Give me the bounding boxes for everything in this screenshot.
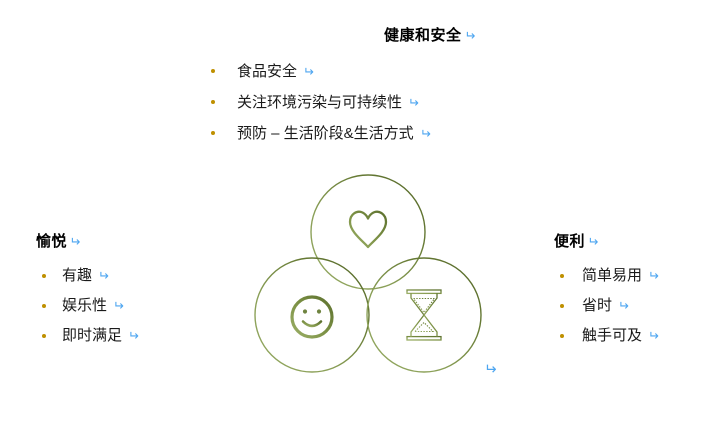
- list-item: 娱乐性 ↵: [36, 291, 139, 321]
- list-item: 省时 ↵: [554, 291, 659, 321]
- group-delight-title-text: 愉悦: [36, 233, 67, 250]
- slide-canvas: 健康和安全↵ 食品安全 ↵ 关注环境污染与可持续性 ↵ 预防 – 生活阶段&生活…: [0, 0, 712, 428]
- list-item-label: 即时满足: [62, 321, 122, 351]
- bullet-dot-icon: [560, 274, 564, 278]
- list-item-label: 省时: [582, 291, 612, 321]
- bullet-dot-icon: [560, 304, 564, 308]
- pilcrow-icon: ↵: [618, 291, 629, 321]
- list-item-label: 娱乐性: [62, 291, 107, 321]
- group-delight-list: 有趣 ↵ 娱乐性 ↵ 即时满足 ↵: [36, 261, 139, 351]
- bullet-dot-icon: [42, 334, 46, 338]
- list-item: 食品安全 ↵: [203, 56, 475, 87]
- pilcrow-icon: ↵: [98, 261, 109, 291]
- pilcrow-icon: ↵: [587, 235, 598, 249]
- pilcrow-icon: ↵: [420, 118, 431, 149]
- list-item: 关注环境污染与可持续性 ↵: [203, 87, 475, 118]
- list-item: 简单易用 ↵: [554, 261, 659, 291]
- group-delight-title: 愉悦↵: [36, 234, 139, 251]
- bullet-dot-icon: [211, 69, 215, 73]
- list-item-label: 触手可及: [582, 321, 642, 351]
- list-item-label: 预防 – 生活阶段&生活方式: [237, 118, 414, 149]
- venn-diagram: [248, 165, 488, 377]
- list-item: 触手可及 ↵: [554, 321, 659, 351]
- pilcrow-icon: ↵: [128, 321, 139, 351]
- pilcrow-icon: ↵: [648, 321, 659, 351]
- group-convenience-title-text: 便利: [554, 233, 585, 250]
- list-item-label: 关注环境污染与可持续性: [237, 87, 402, 118]
- bullet-dot-icon: [42, 304, 46, 308]
- group-convenience-list: 简单易用 ↵ 省时 ↵ 触手可及 ↵: [554, 261, 659, 351]
- heart-icon: [350, 212, 386, 247]
- group-delight: 愉悦↵ 有趣 ↵ 娱乐性 ↵ 即时满足 ↵: [36, 234, 139, 351]
- pilcrow-icon: ↵: [69, 235, 80, 249]
- hourglass-icon: [407, 290, 441, 340]
- health-circle: [311, 175, 425, 289]
- list-item-label: 简单易用: [582, 261, 642, 291]
- bullet-dot-icon: [211, 100, 215, 104]
- delight-circle: [255, 258, 369, 372]
- pilcrow-icon: ↵: [408, 87, 419, 118]
- bullet-dot-icon: [42, 274, 46, 278]
- pilcrow-icon: ↵: [113, 291, 124, 321]
- group-health-title: 健康和安全↵: [384, 28, 475, 45]
- bullet-dot-icon: [560, 334, 564, 338]
- group-health: 健康和安全↵ 食品安全 ↵ 关注环境污染与可持续性 ↵ 预防 – 生活阶段&生活…: [203, 28, 475, 149]
- list-item-label: 有趣: [62, 261, 92, 291]
- pilcrow-icon: ↵: [464, 29, 475, 43]
- group-convenience-title: 便利↵: [554, 234, 659, 251]
- group-health-list: 食品安全 ↵ 关注环境污染与可持续性 ↵ 预防 – 生活阶段&生活方式 ↵: [203, 56, 475, 149]
- group-health-title-text: 健康和安全: [384, 27, 462, 44]
- list-item: 有趣 ↵: [36, 261, 139, 291]
- list-item-label: 食品安全: [237, 56, 297, 87]
- smiley-icon: [292, 297, 332, 337]
- group-convenience: 便利↵ 简单易用 ↵ 省时 ↵ 触手可及 ↵: [554, 234, 659, 351]
- pilcrow-icon: ↵: [484, 360, 497, 378]
- list-item: 预防 – 生活阶段&生活方式 ↵: [203, 118, 475, 149]
- pilcrow-icon: ↵: [303, 56, 314, 87]
- pilcrow-icon: ↵: [648, 261, 659, 291]
- list-item: 即时满足 ↵: [36, 321, 139, 351]
- bullet-dot-icon: [211, 131, 215, 135]
